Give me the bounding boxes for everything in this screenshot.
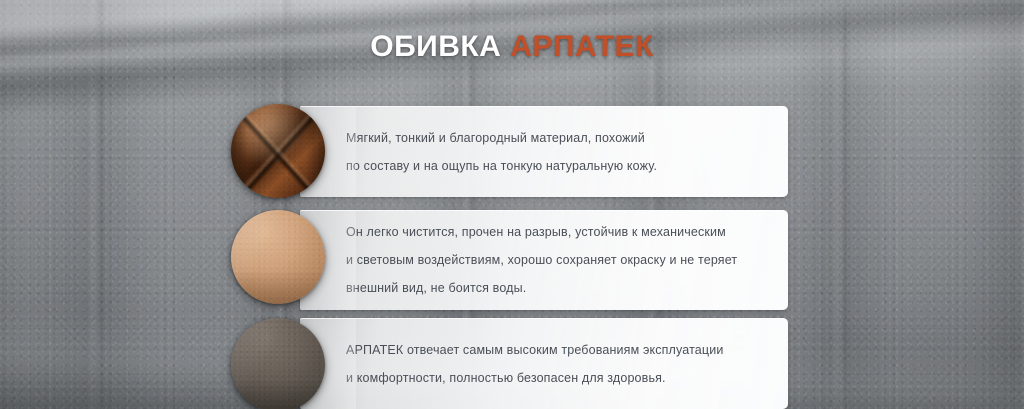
swatch-dark-brown — [231, 104, 325, 198]
feature-row-1: Мягкий, тонкий и благородный материал, п… — [0, 106, 1024, 197]
feature-row-3: АРПАТЕК отвечает самым высоким требовани… — [0, 318, 1024, 409]
page-title: ОБИВКА АРПАТЕК — [0, 32, 1024, 62]
swatch-grain-1 — [231, 104, 325, 198]
banner-arpatek: ОБИВКА АРПАТЕК Мягкий, тонкий и благород… — [0, 0, 1024, 409]
title-word-primary: ОБИВКА — [370, 30, 501, 63]
feature-row-2: Он легко чистится, прочен на разрыв, уст… — [0, 210, 1024, 310]
feature-text-3: АРПАТЕК отвечает самым высоким требовани… — [346, 336, 762, 392]
feature-panel-3: АРПАТЕК отвечает самым высоким требовани… — [300, 318, 788, 409]
swatch-dark-taupe — [231, 318, 325, 409]
feature-panel-1: Мягкий, тонкий и благородный материал, п… — [300, 106, 788, 197]
title-word-accent: АРПАТЕК — [510, 30, 654, 63]
feature-text-2: Он легко чистится, прочен на разрыв, уст… — [346, 218, 762, 302]
swatch-grain-3 — [231, 318, 325, 409]
swatch-tan-beige — [231, 210, 325, 304]
feature-text-1: Мягкий, тонкий и благородный материал, п… — [346, 124, 762, 180]
feature-panel-2: Он легко чистится, прочен на разрыв, уст… — [300, 210, 788, 310]
swatch-grain-2 — [231, 210, 325, 304]
